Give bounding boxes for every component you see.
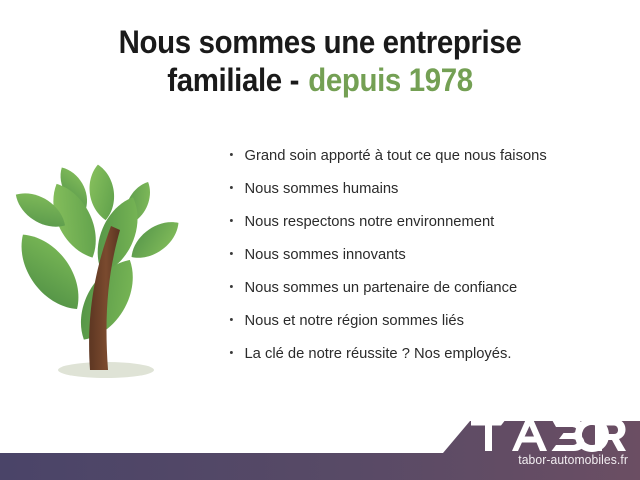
logo-url-label: tabor-automobiles.fr bbox=[475, 453, 628, 467]
list-item: Nous sommes innovants bbox=[228, 245, 616, 264]
bullet-dot-icon bbox=[230, 318, 233, 321]
list-item-label: Nous sommes innovants bbox=[244, 246, 405, 263]
slide-canvas: Nous sommes une entreprise familiale -de… bbox=[0, 0, 640, 480]
list-item: Nous sommes humains bbox=[228, 179, 616, 198]
title-line-2-plain: familiale - bbox=[167, 62, 299, 98]
tree-illustration bbox=[8, 148, 220, 392]
bullet-dot-icon bbox=[230, 186, 233, 189]
list-item-label: Nous sommes humains bbox=[244, 180, 398, 197]
list-item-label: Nous et notre région sommes liés bbox=[244, 312, 463, 329]
bullet-dot-icon bbox=[230, 285, 233, 288]
list-item-label: Nous respectons notre environnement bbox=[244, 213, 494, 230]
tabor-logo[interactable]: tabor-automobiles.fr bbox=[470, 418, 628, 467]
list-item: Nous sommes un partenaire de confiance bbox=[228, 278, 616, 297]
bullet-dot-icon bbox=[230, 219, 233, 222]
list-item: La clé de notre réussite ? Nos employés. bbox=[228, 344, 616, 363]
bullet-dot-icon bbox=[230, 252, 233, 255]
list-item: Nous et notre région sommes liés bbox=[228, 311, 616, 330]
title-accent-since-1978: depuis 1978 bbox=[308, 62, 473, 98]
title-line-1: Nous sommes une entreprise bbox=[26, 24, 615, 62]
list-item-label: Grand soin apporté à tout ce que nous fa… bbox=[244, 147, 546, 164]
page-title: Nous sommes une entreprise familiale -de… bbox=[0, 24, 640, 100]
bullet-dot-icon bbox=[230, 351, 233, 354]
list-item-label: Nous sommes un partenaire de confiance bbox=[244, 279, 517, 296]
values-list: Grand soin apporté à tout ce que nous fa… bbox=[228, 146, 628, 363]
title-line-2: familiale -depuis 1978 bbox=[26, 62, 615, 100]
list-item: Nous respectons notre environnement bbox=[228, 212, 616, 231]
list-item-label: La clé de notre réussite ? Nos employés. bbox=[244, 345, 511, 362]
list-item: Grand soin apporté à tout ce que nous fa… bbox=[228, 146, 616, 165]
tabor-wordmark bbox=[470, 418, 628, 452]
bullet-dot-icon bbox=[230, 153, 233, 156]
footer-bar: tabor-automobiles.fr bbox=[0, 410, 640, 480]
